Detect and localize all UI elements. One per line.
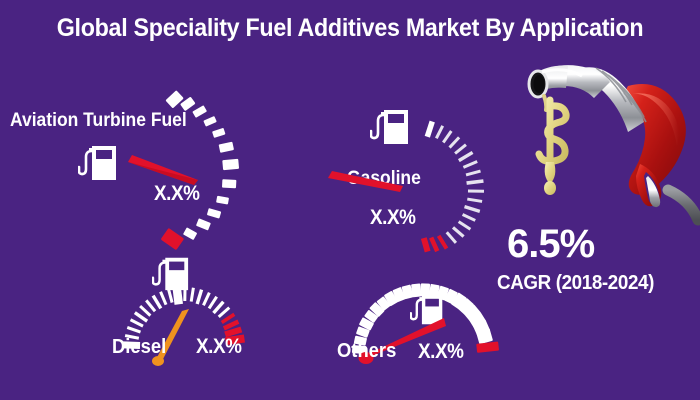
- gauge-aviation-turbine-fuel: [120, 100, 270, 230]
- gauge-redzone-tick: [424, 236, 447, 252]
- segment-value-gasoline: X.X%: [370, 206, 415, 230]
- page-title: Global Speciality Fuel Additives Market …: [25, 14, 676, 43]
- infographic-canvas: Global Speciality Fuel Additives Market …: [0, 0, 700, 400]
- cagr-value: 6.5%: [507, 222, 594, 267]
- segment-value-aviation-turbine-fuel: X.X%: [154, 182, 199, 206]
- fuel-nozzle-icon: [520, 60, 700, 235]
- gauge-needle: [128, 155, 198, 185]
- segment-value-diesel: X.X%: [196, 335, 241, 359]
- dollar-sign-icon: [539, 100, 566, 195]
- segment-label-diesel: Diesel: [112, 336, 166, 359]
- fuel-pump-icon: [78, 140, 118, 184]
- cagr-label: CAGR (2018-2024): [497, 272, 654, 295]
- gauge-redzone-tick: [161, 228, 185, 250]
- segment-value-others: X.X%: [418, 340, 463, 364]
- segment-label-others: Others: [337, 340, 396, 363]
